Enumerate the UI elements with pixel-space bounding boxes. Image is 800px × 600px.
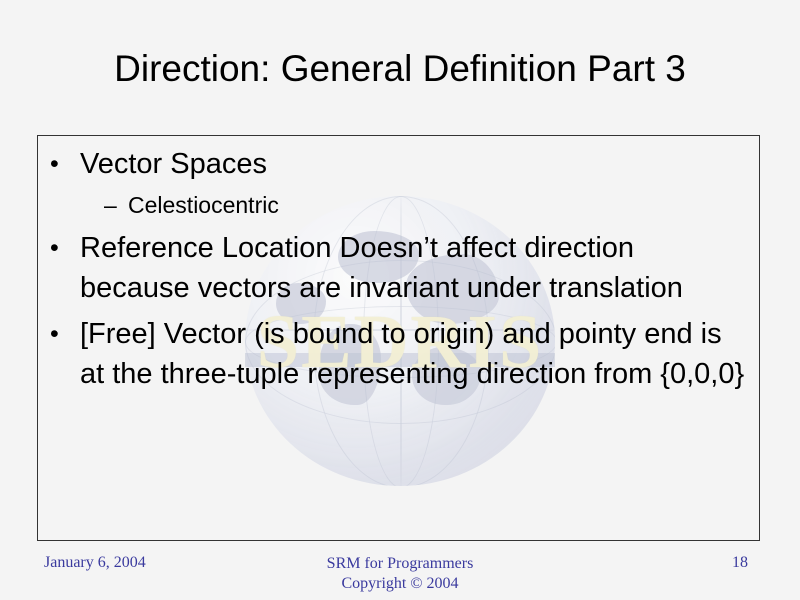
sub-bullet-text: Celestiocentric xyxy=(128,188,749,222)
footer-center: SRM for Programmers Copyright © 2004 xyxy=(0,554,800,594)
bullet-text: Reference Location Doesn’t affect direct… xyxy=(80,228,749,308)
bullet-marker-icon: • xyxy=(50,144,80,184)
footer-copyright-line: Copyright © 2004 xyxy=(0,574,800,594)
slide-footer: January 6, 2004 SRM for Programmers Copy… xyxy=(0,548,800,600)
dash-marker-icon: – xyxy=(104,188,128,222)
bullet-text: Vector Spaces xyxy=(80,144,749,184)
bullet-item: • [Free] Vector (is bound to origin) and… xyxy=(46,314,749,394)
sub-bullet-item: – Celestiocentric xyxy=(46,188,749,222)
slide-title: Direction: General Definition Part 3 xyxy=(0,48,800,90)
bullet-item: • Vector Spaces xyxy=(46,144,749,184)
presentation-slide: SEDRIS Direction: General Definition Par… xyxy=(0,0,800,600)
bullet-item: • Reference Location Doesn’t affect dire… xyxy=(46,228,749,308)
content-body-box: • Vector Spaces – Celestiocentric • Refe… xyxy=(37,135,760,541)
bullet-text: [Free] Vector (is bound to origin) and p… xyxy=(80,314,749,394)
slide-page-number: 18 xyxy=(732,554,748,572)
bullet-marker-icon: • xyxy=(50,228,80,268)
footer-title-line: SRM for Programmers xyxy=(0,554,800,574)
bullet-marker-icon: • xyxy=(50,314,80,354)
bullet-list: • Vector Spaces – Celestiocentric • Refe… xyxy=(38,136,759,394)
